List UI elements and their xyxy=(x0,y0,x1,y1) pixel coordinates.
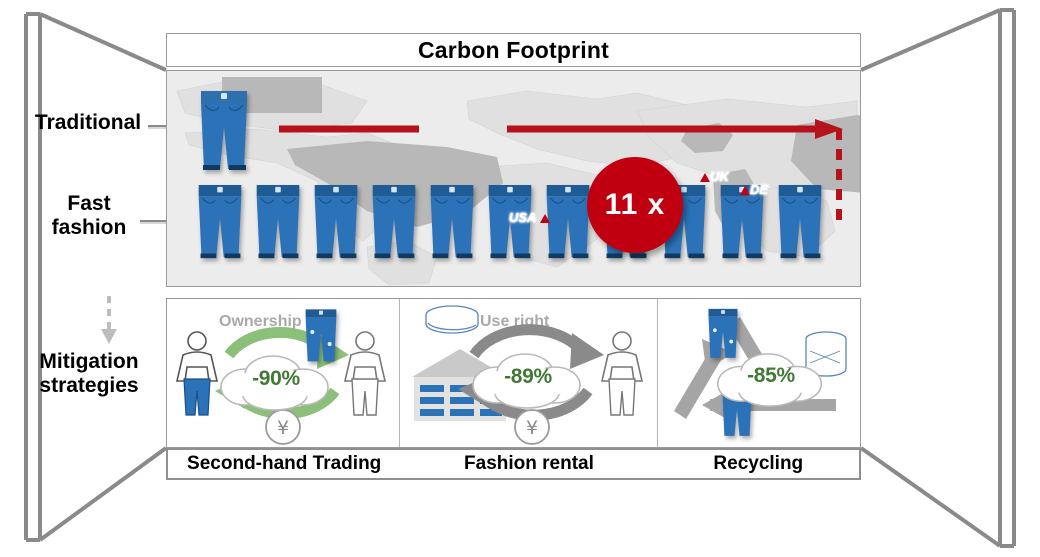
strategy-panel-second-hand: Ownership xyxy=(167,299,400,447)
reduction-value-second-hand: -90% xyxy=(211,367,341,391)
strategy-footer-fashion-rental: Fashion rental xyxy=(400,453,657,475)
world-map-panel: 11 x USA UK DE CN IN xyxy=(166,70,861,287)
reduction-cloud-recycling: -85% xyxy=(708,349,834,409)
triangle-marker-icon xyxy=(700,173,710,182)
yen-symbol-icon: ¥ xyxy=(526,417,538,439)
map-marker-usa-label: USA xyxy=(509,210,536,225)
strategy-footer-recycling: Recycling xyxy=(658,453,859,475)
multiplier-badge: 11 x xyxy=(587,157,683,253)
map-marker-uk-label: UK xyxy=(710,169,729,184)
map-marker-de: DE xyxy=(740,182,768,197)
leader-line-fast-fashion xyxy=(140,220,168,224)
strategy-panel-recycling: -85% xyxy=(658,299,860,447)
reduction-cloud-fashion-rental: -89% xyxy=(463,349,593,411)
folded-clothes-icon xyxy=(426,306,478,333)
reduction-cloud-second-hand: -90% xyxy=(211,351,341,413)
person-without-jeans-icon xyxy=(345,332,385,415)
map-marker-de-label: DE xyxy=(750,182,768,197)
row-label-mitigation-line1: Mitigation xyxy=(14,350,164,374)
yen-symbol-icon: ¥ xyxy=(277,417,289,439)
map-marker-usa: USA xyxy=(509,210,550,225)
triangle-marker-icon xyxy=(740,186,750,195)
dashed-down-arrow-icon xyxy=(96,296,122,346)
page-title-text: Carbon Footprint xyxy=(418,37,609,64)
row-label-fast-fashion: Fast fashion xyxy=(24,192,154,239)
infographic-canvas: Traditional Fast fashion Mitigation stra… xyxy=(0,0,1040,557)
reduction-value-fashion-rental: -89% xyxy=(463,365,593,389)
reduction-value-recycling: -85% xyxy=(708,364,834,388)
row-label-fast-fashion-line2: fashion xyxy=(24,216,154,240)
triangle-marker-icon xyxy=(540,214,550,223)
carbon-flow-arrow-icon xyxy=(167,71,860,286)
person-icon xyxy=(602,332,642,415)
row-label-mitigation-line2: strategies xyxy=(14,374,164,398)
multiplier-value: 11 x xyxy=(605,188,666,222)
strategy-panel-fashion-rental: Use right xyxy=(400,299,658,447)
page-title: Carbon Footprint xyxy=(166,33,861,67)
mitigation-strategies-panel: Ownership xyxy=(166,298,861,448)
row-label-traditional: Traditional xyxy=(14,111,162,135)
row-label-fast-fashion-line1: Fast xyxy=(24,192,154,216)
strategy-footer-second-hand: Second-hand Trading xyxy=(168,453,400,475)
row-label-mitigation: Mitigation strategies xyxy=(14,350,164,397)
map-marker-uk: UK xyxy=(700,169,729,184)
strategy-footer-row: Second-hand Trading Fashion rental Recyc… xyxy=(166,448,861,480)
